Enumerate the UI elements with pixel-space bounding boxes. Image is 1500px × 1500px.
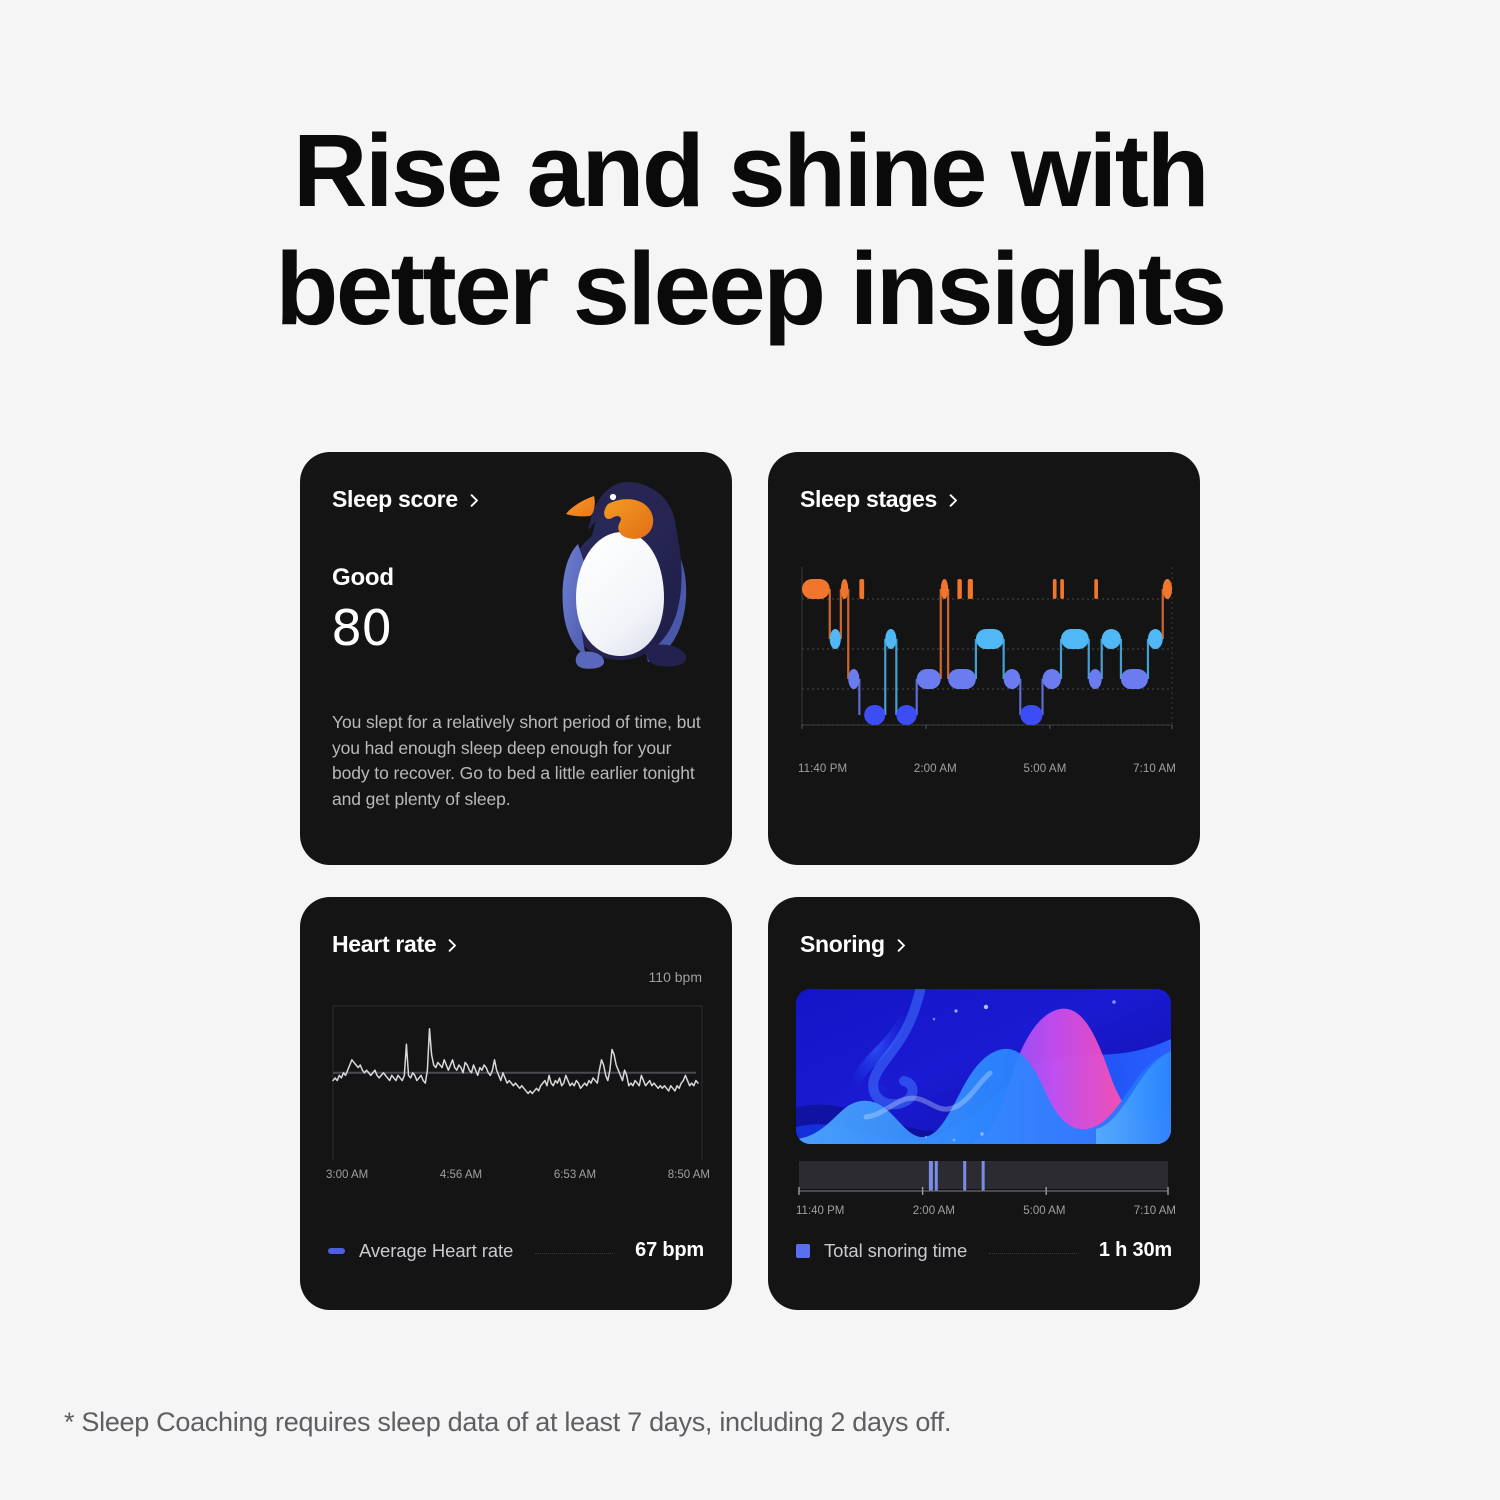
legend-leader-dots — [535, 1253, 613, 1254]
sleep-stages-card-header[interactable]: Sleep stages — [800, 486, 960, 513]
axis-tick-label: 7:10 AM — [1134, 1205, 1176, 1217]
cards-grid: Sleep score — [300, 452, 1200, 1310]
legend-leader-dots — [989, 1253, 1077, 1254]
chevron-right-icon[interactable] — [947, 494, 960, 507]
axis-tick-label: 2:00 AM — [913, 1205, 955, 1217]
axis-tick-label: 2:00 AM — [914, 763, 957, 775]
snoring-legend-label: Total snoring time — [824, 1240, 967, 1262]
heart-rate-card[interactable]: Heart rate 110 bpm 3:00 AM 4:56 AM 6:53 … — [300, 897, 732, 1310]
axis-tick-label: 7:10 AM — [1133, 763, 1176, 775]
axis-tick-label: 5:00 AM — [1023, 1205, 1065, 1217]
snoring-waveform-image — [796, 989, 1171, 1144]
axis-tick-label: 6:53 AM — [554, 1169, 596, 1181]
snoring-card-header[interactable]: Snoring — [800, 931, 908, 958]
page-title-line-1: Rise and shine with — [293, 113, 1207, 228]
axis-tick-label: 11:40 PM — [798, 763, 847, 775]
sleep-stages-chart: 11:40 PM 2:00 AM 5:00 AM 7:10 AM — [798, 557, 1176, 775]
sleep-score-description: You slept for a relatively short period … — [332, 710, 710, 812]
snoring-x-axis: 11:40 PM 2:00 AM 5:00 AM 7:10 AM — [796, 1205, 1176, 1217]
sleep-stages-x-axis: 11:40 PM 2:00 AM 5:00 AM 7:10 AM — [798, 763, 1176, 775]
axis-tick-label: 11:40 PM — [796, 1205, 844, 1217]
heart-rate-legend-value: 67 bpm — [635, 1239, 704, 1262]
axis-tick-label: 5:00 AM — [1023, 763, 1066, 775]
snoring-legend-value: 1 h 30m — [1099, 1239, 1172, 1262]
snoring-card[interactable]: Snoring — [768, 897, 1200, 1310]
sleep-stages-card-title: Sleep stages — [800, 486, 937, 513]
snoring-timeline-chart — [796, 1159, 1171, 1204]
axis-tick-label: 3:00 AM — [326, 1169, 368, 1181]
heart-rate-card-title: Heart rate — [332, 931, 436, 958]
heart-rate-legend-label: Average Heart rate — [359, 1240, 513, 1262]
axis-tick-label: 4:56 AM — [440, 1169, 482, 1181]
heart-rate-chart — [325, 1000, 710, 1110]
chevron-right-icon[interactable] — [468, 494, 481, 507]
chevron-right-icon[interactable] — [446, 939, 459, 952]
page-title-line-2: better sleep insights — [0, 230, 1500, 348]
chevron-right-icon[interactable] — [895, 939, 908, 952]
heart-rate-x-axis: 3:00 AM 4:56 AM 6:53 AM 8:50 AM — [326, 1169, 710, 1181]
penguin-icon — [536, 470, 716, 675]
snoring-legend: Total snoring time 1 h 30m — [796, 1239, 1172, 1262]
sleep-stages-card[interactable]: Sleep stages 11:40 PM 2:00 AM 5:00 AM 7:… — [768, 452, 1200, 865]
heart-rate-card-header[interactable]: Heart rate — [332, 931, 459, 958]
sleep-score-value: 80 — [331, 600, 391, 657]
heart-rate-max-label: 110 bpm — [649, 969, 702, 985]
heart-rate-legend: Average Heart rate 67 bpm — [328, 1239, 704, 1262]
sleep-score-rating: Good — [332, 564, 394, 592]
footnote: * Sleep Coaching requires sleep data of … — [64, 1407, 951, 1438]
legend-swatch-icon — [328, 1248, 345, 1254]
sleep-score-card-header[interactable]: Sleep score — [332, 486, 481, 513]
page-title: Rise and shine with better sleep insight… — [0, 112, 1500, 348]
sleep-insights-page: Rise and shine with better sleep insight… — [0, 0, 1500, 1500]
axis-tick-label: 8:50 AM — [668, 1169, 710, 1181]
sleep-score-card-title: Sleep score — [332, 486, 458, 513]
legend-swatch-icon — [796, 1244, 810, 1258]
sleep-score-card[interactable]: Sleep score — [300, 452, 732, 865]
snoring-card-title: Snoring — [800, 931, 885, 958]
